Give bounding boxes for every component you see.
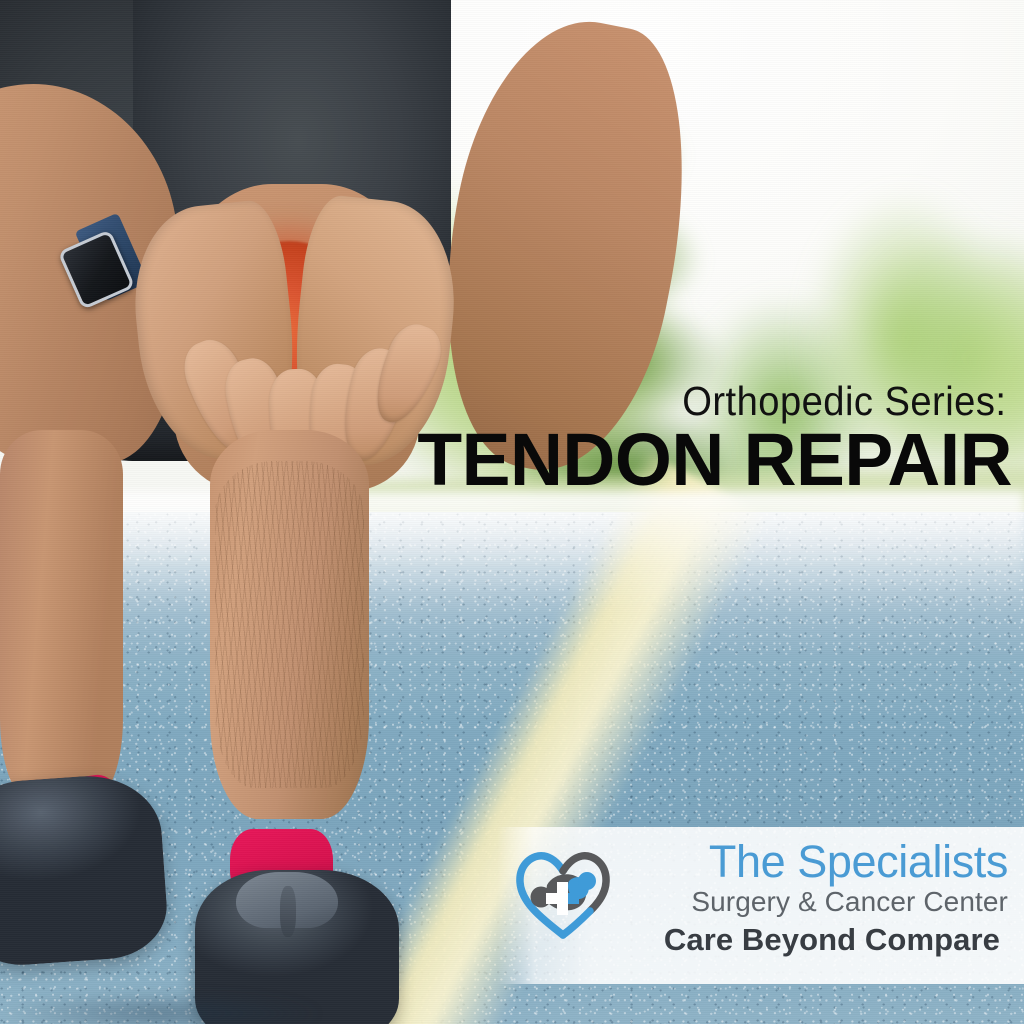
brand-name: The Specialists (709, 838, 1008, 885)
running-shoe-left (0, 771, 170, 969)
right-arm (410, 3, 717, 488)
far-leg (0, 430, 123, 799)
social-graphic-canvas: Orthopedic Series: TENDON REPAIR (0, 0, 1024, 1024)
ground-shadow (0, 983, 430, 1024)
brand-tagline: Care Beyond Compare (664, 921, 1000, 959)
brand-subtitle: Surgery & Cancer Center (691, 885, 1008, 918)
brand-text-group: The Specialists Surgery & Cancer Center … (615, 838, 1010, 959)
leg-hair-texture (215, 461, 363, 789)
brand-logo-panel: The Specialists Surgery & Cancer Center … (497, 827, 1024, 984)
heart-people-cross-icon (511, 840, 615, 944)
shoe-tongue (280, 886, 296, 937)
